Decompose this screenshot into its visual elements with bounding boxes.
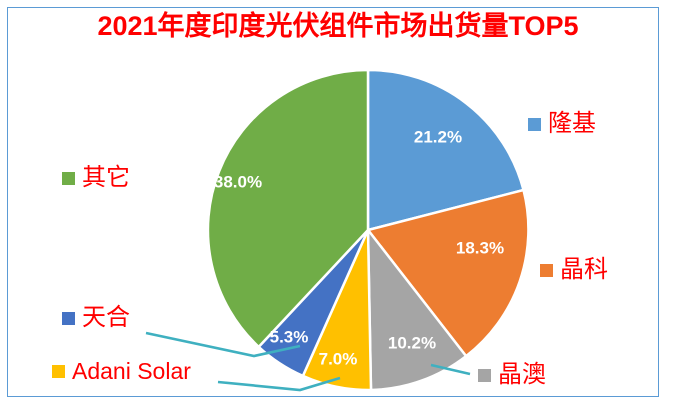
slice-label-adani-solar: 7.0% bbox=[319, 349, 358, 368]
legend-item-jinko[interactable]: 晶科 bbox=[540, 258, 608, 282]
slice-label-trina: 5.3% bbox=[270, 327, 309, 346]
legend-item-jinao[interactable]: 晶澳 bbox=[478, 363, 546, 387]
slice-label-others: 38.0% bbox=[214, 172, 262, 191]
slice-label-jinko: 18.3% bbox=[456, 238, 504, 257]
legend-item-longi[interactable]: 隆基 bbox=[528, 112, 596, 136]
slice-label-longi: 21.2% bbox=[414, 127, 462, 146]
square-marker-trina bbox=[62, 312, 75, 325]
legend-label-longi: 隆基 bbox=[548, 112, 596, 136]
chart-screenshot: 2021年度印度光伏组件市场出货量TOP5 21.2% 18.3% 10.2% … bbox=[0, 0, 684, 410]
slice-label-jinao: 10.2% bbox=[388, 333, 436, 352]
pie-svg: 21.2% 18.3% 10.2% 7.0% 5.3% 38.0% bbox=[205, 57, 535, 397]
square-marker-adani-solar bbox=[52, 365, 65, 378]
legend-label-adani-solar: Adani Solar bbox=[72, 360, 191, 383]
legend-label-others: 其它 bbox=[82, 166, 130, 190]
legend-item-others[interactable]: 其它 bbox=[62, 166, 130, 190]
square-marker-jinko bbox=[540, 264, 553, 277]
legend-item-trina[interactable]: 天合 bbox=[62, 306, 130, 330]
legend-item-adani-solar[interactable]: Adani Solar bbox=[52, 360, 191, 383]
pie-chart: 21.2% 18.3% 10.2% 7.0% 5.3% 38.0% bbox=[205, 57, 535, 397]
square-marker-others bbox=[62, 172, 75, 185]
legend-label-jinao: 晶澳 bbox=[498, 363, 546, 387]
chart-title: 2021年度印度光伏组件市场出货量TOP5 bbox=[18, 12, 658, 40]
square-marker-jinao bbox=[478, 369, 491, 382]
square-marker-longi bbox=[528, 118, 541, 131]
legend-label-jinko: 晶科 bbox=[560, 258, 608, 282]
legend-label-trina: 天合 bbox=[82, 306, 130, 330]
